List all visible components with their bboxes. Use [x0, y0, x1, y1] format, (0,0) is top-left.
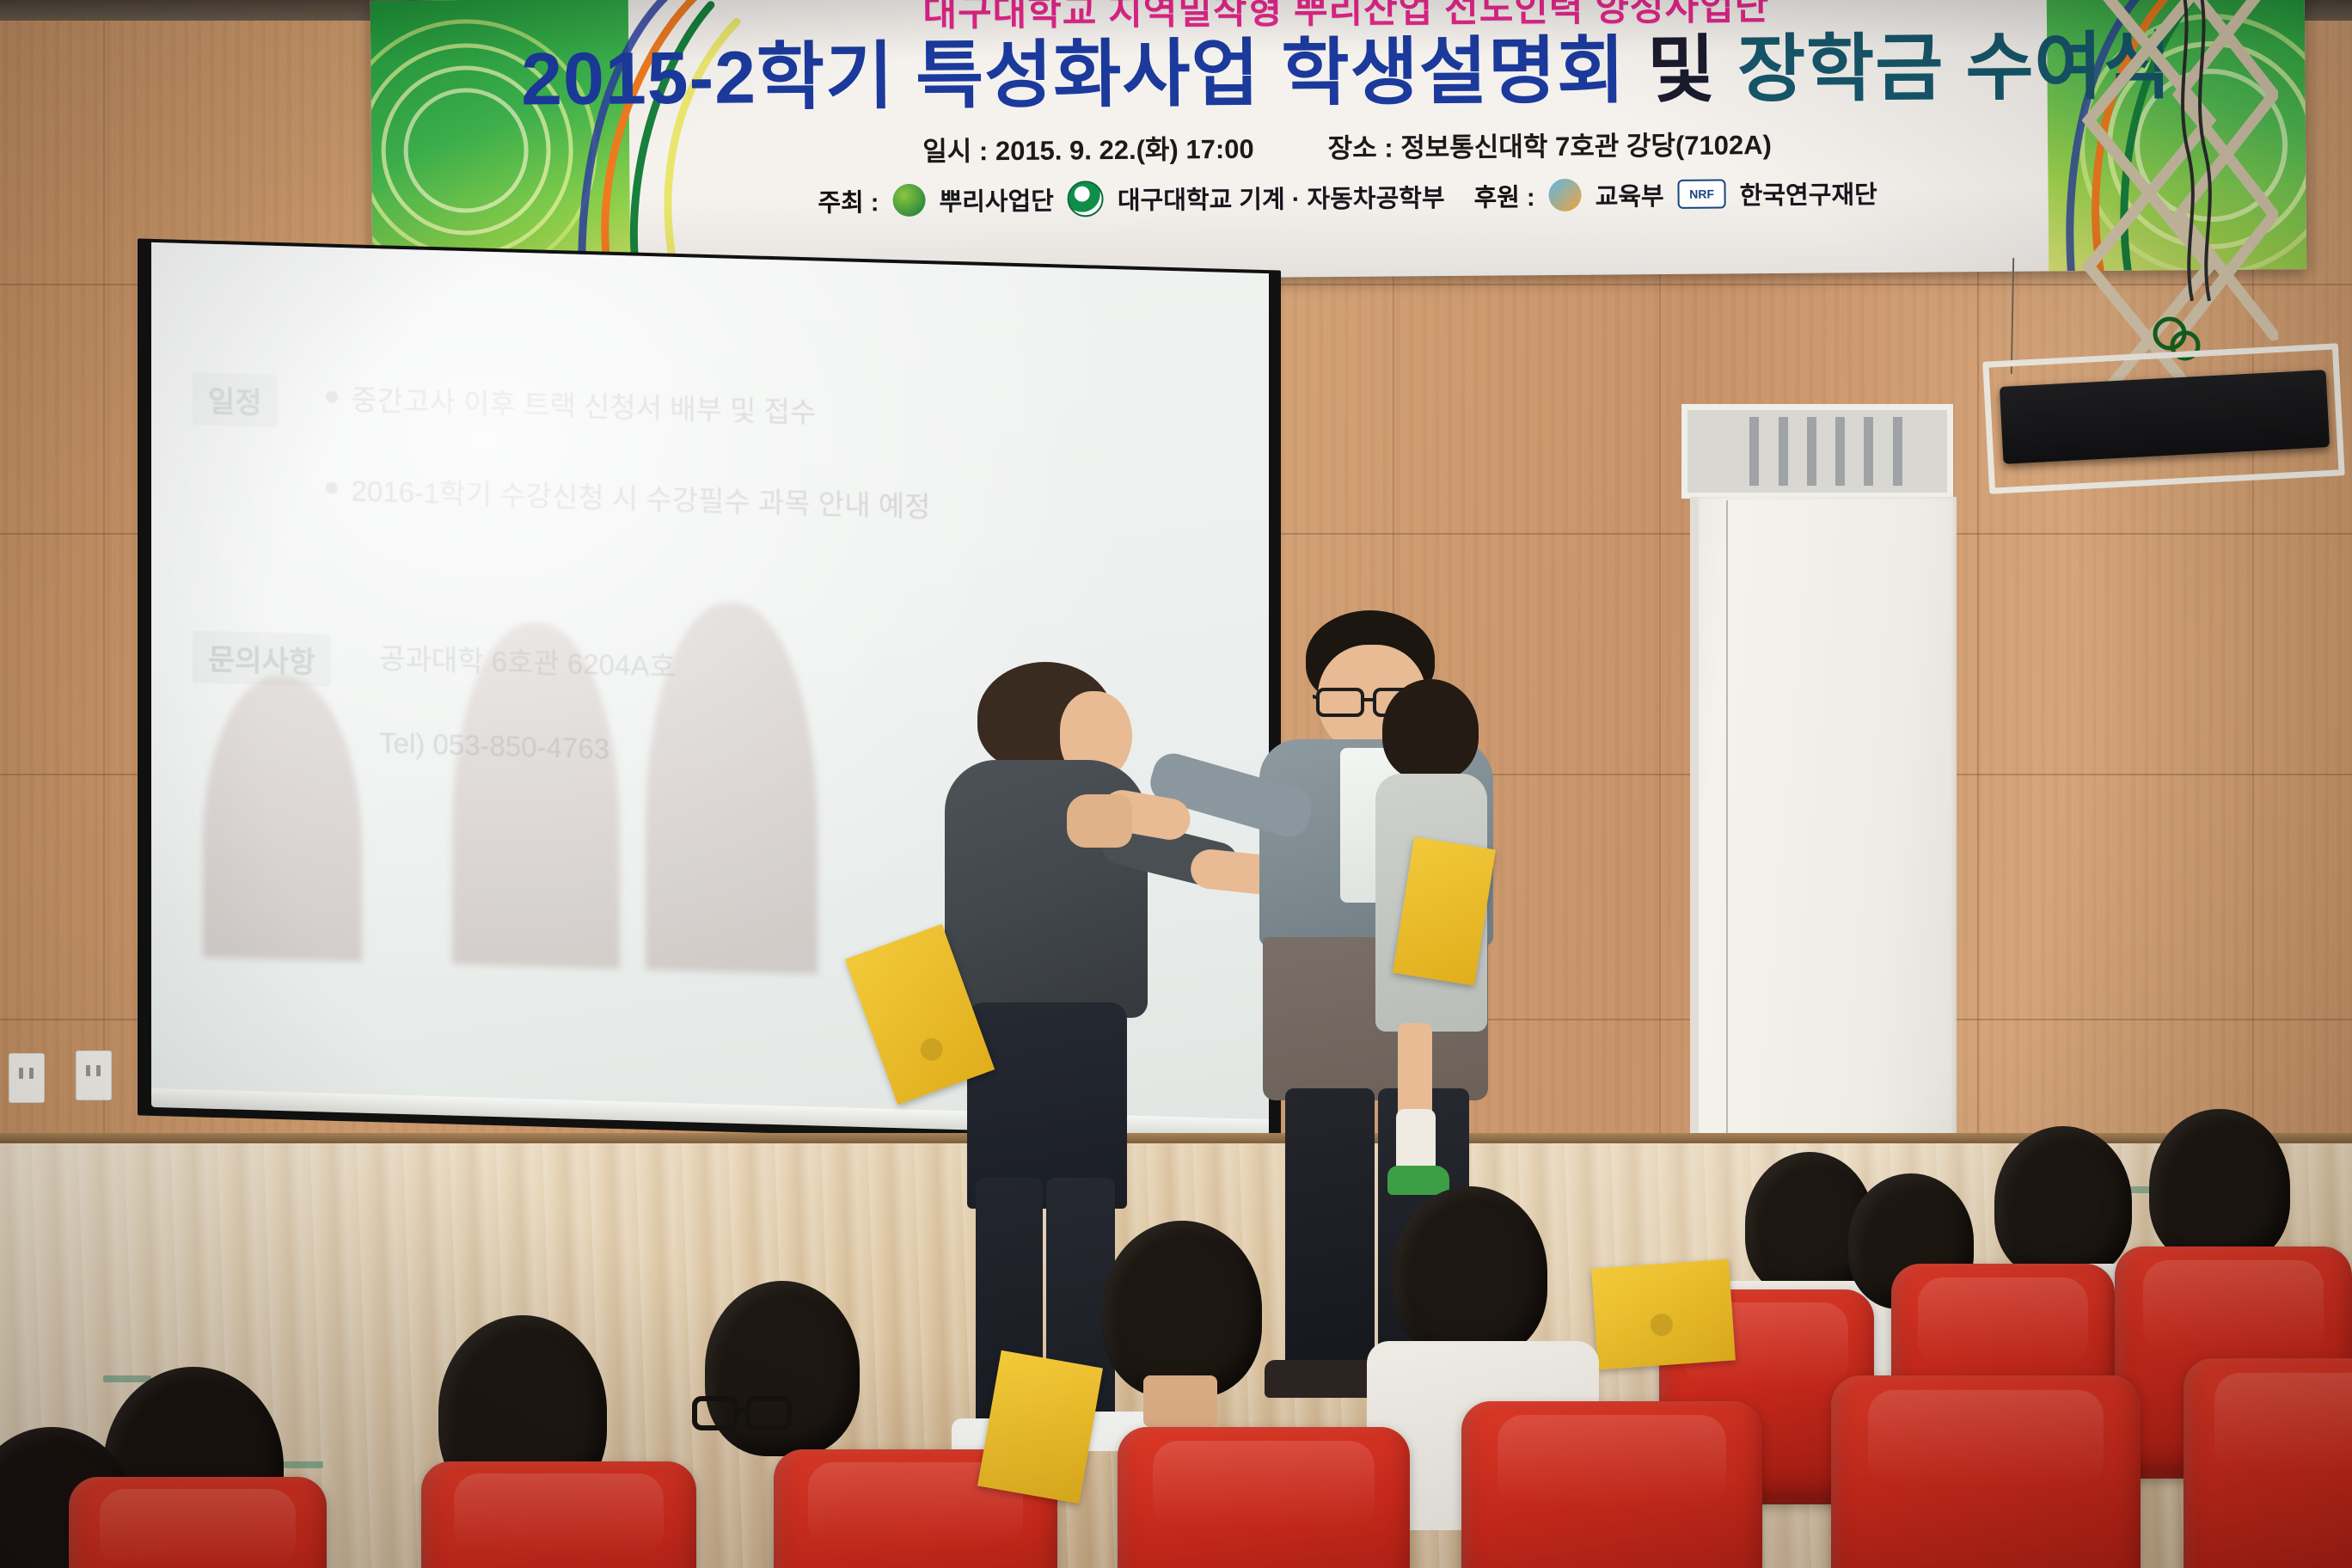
audience-head: [2149, 1109, 2290, 1265]
daegu-university-logo-icon: [1068, 181, 1104, 217]
banner-text-block: 대구대학교 지역밀착형 뿌리산업 선도인력 양성사업단 2015-2학기 특성화…: [654, 0, 2041, 282]
presenter-leg-left: [1285, 1088, 1375, 1372]
nrf-logo-icon: NRF: [1678, 180, 1726, 209]
auditorium-door[interactable]: [1676, 404, 1960, 1143]
slide-tag-contact: 문의사항: [193, 630, 331, 687]
audience-head: [1102, 1221, 1262, 1398]
slide-bullet-item: 중간고사 이후 트랙 신청서 배부 및 접수: [326, 377, 931, 435]
banner-title-and: 및: [1647, 29, 1717, 113]
slide-bullet-text: 중간고사 이후 트랙 신청서 배부 및 접수: [352, 377, 817, 431]
audience-head: [1393, 1186, 1547, 1358]
auditorium-seat[interactable]: [69, 1477, 327, 1568]
wall-power-outlet[interactable]: [9, 1053, 45, 1103]
audience-head: [1994, 1126, 2132, 1279]
auditorium-seat[interactable]: [421, 1461, 696, 1568]
auditorium-seat[interactable]: [2184, 1358, 2352, 1568]
presenter-shoe-left: [1265, 1360, 1381, 1398]
audience-glasses-icon: [688, 1388, 799, 1440]
bullet-dot-icon: [326, 482, 338, 494]
slide-bullet-item: 2016-1학기 수강신청 시 수강필수 과목 안내 예정: [326, 468, 931, 526]
banner-host-org2: 대구대학교 기계 · 자동차공학부: [1118, 178, 1445, 217]
slide-contact-address: 공과대학 6호관 6204A호: [379, 635, 676, 685]
banner-sponsor-label: 후원 :: [1473, 178, 1534, 215]
banner-main-title: 2015-2학기 특성화사업 학생설명회 및 장학금 수여식: [521, 26, 2172, 121]
bullet-dot-icon: [326, 391, 338, 403]
auditorium-seat[interactable]: [1118, 1427, 1410, 1568]
assistant-shoe: [1387, 1166, 1449, 1195]
slide-tag-schedule: 일정: [193, 372, 278, 427]
photo-scene: 대구대학교 지역밀착형 뿌리산업 선도인력 양성사업단 2015-2학기 특성화…: [0, 0, 2352, 1568]
floor-tape-mark: [284, 1461, 323, 1468]
ceiling-projector-assembly: [1977, 258, 2338, 481]
handshake-hands: [1067, 794, 1132, 848]
banner-organizations-row: 주최 : 뿌리사업단 대구대학교 기계 · 자동차공학부 후원 : 교육부 NR…: [818, 175, 1877, 220]
banner-details-row: 일시 : 2015. 9. 22.(화) 17:00 장소 : 정보통신대학 7…: [922, 123, 1772, 168]
banner-venue: 장소 : 정보통신대학 7호관 강당(7102A): [1327, 123, 1772, 165]
banner-host-label: 주최 :: [818, 183, 879, 220]
banner-datetime: 일시 : 2015. 9. 22.(화) 17:00: [922, 127, 1254, 168]
floor-tape-mark: [103, 1375, 151, 1382]
audience-neck: [1143, 1375, 1217, 1427]
assistant-hair: [1382, 679, 1479, 781]
ppuri-logo-icon: [892, 184, 925, 217]
banner-sponsor-org1: 교육부: [1595, 176, 1663, 213]
door-transom-louver: [1681, 404, 1953, 499]
door-seam: [1726, 500, 1728, 1138]
certificate-folder: [1591, 1259, 1736, 1370]
auditorium-seat[interactable]: [1831, 1375, 2141, 1568]
slide-bullet-list: 중간고사 이후 트랙 신청서 배부 및 접수 2016-1학기 수강신청 시 수…: [326, 377, 931, 576]
banner-title-main: 2015-2학기 특성화사업 학생설명회: [521, 30, 1626, 121]
door-panel[interactable]: [1690, 497, 1957, 1142]
banner-subtitle-pink: 대구대학교 지역밀착형 뿌리산업 선도인력 양성사업단: [922, 0, 1769, 34]
wall-power-outlet[interactable]: [76, 1050, 112, 1100]
student-receiving-award: [933, 662, 1156, 1315]
banner-host-org1: 뿌리사업단: [939, 181, 1054, 218]
ministry-of-education-logo-icon: [1548, 179, 1581, 211]
slide-contact-phone: Tel) 053-850-4763: [379, 726, 676, 768]
banner-sponsor-org2: 한국연구재단: [1739, 175, 1877, 212]
event-banner: 대구대학교 지역밀착형 뿌리산업 선도인력 양성사업단 2015-2학기 특성화…: [371, 0, 2307, 285]
slide-contact-list: 공과대학 6호관 6204A호 Tel) 053-850-4763: [379, 635, 676, 818]
slide-bullet-text: 2016-1학기 수강신청 시 수강필수 과목 안내 예정: [352, 468, 931, 525]
auditorium-seat[interactable]: [1461, 1401, 1762, 1568]
projector-support-wire: [2011, 258, 2014, 374]
